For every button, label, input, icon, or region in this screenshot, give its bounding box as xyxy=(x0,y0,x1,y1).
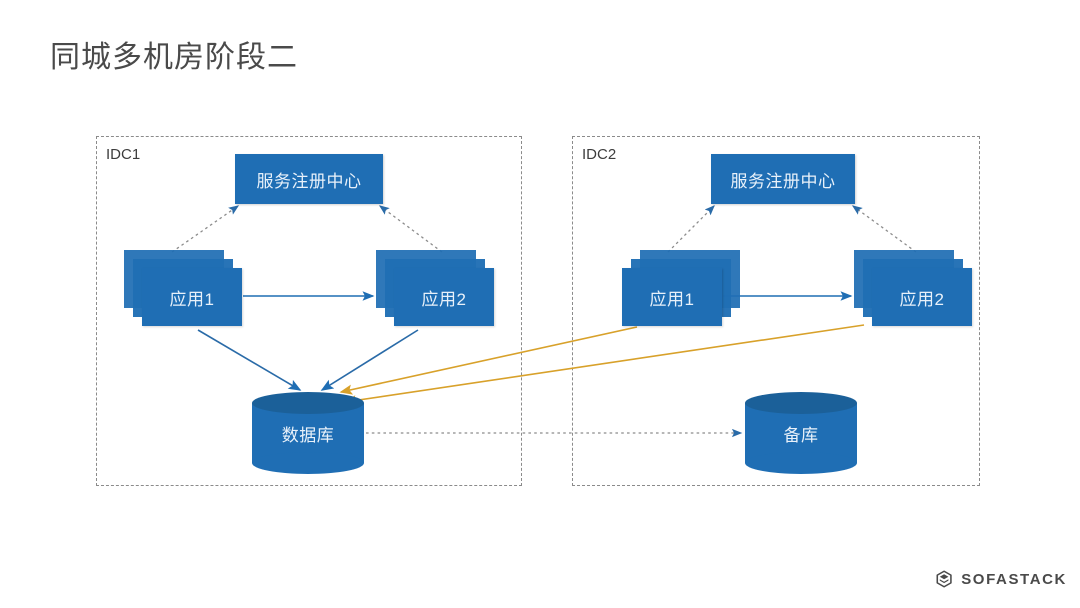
app-node-app2-idc2-label: 应用2 xyxy=(900,285,945,310)
database-node-backup[interactable]: 备库 xyxy=(745,392,857,474)
service-registry-idc2[interactable]: 服务注册中心 xyxy=(711,154,855,204)
service-registry-idc2-label: 服务注册中心 xyxy=(731,167,836,192)
app-stack-layer-front: 应用1 xyxy=(142,268,242,326)
app-stack-layer-front: 应用2 xyxy=(872,268,972,326)
app-node-app2-idc1[interactable]: 应用2 xyxy=(376,250,494,326)
app-node-app2-idc2[interactable]: 应用2 xyxy=(854,250,972,326)
zone-label-idc2: IDC2 xyxy=(582,146,616,164)
service-registry-idc1[interactable]: 服务注册中心 xyxy=(235,154,383,204)
app-node-app1-idc2[interactable]: 应用1 xyxy=(622,250,740,326)
sofastack-wordmark: SOFASTACK xyxy=(961,571,1067,588)
sofastack-logo: SOFASTACK xyxy=(935,557,1067,601)
stacked-layers-hexagon-icon xyxy=(935,561,953,597)
app-stack-layer-front: 应用2 xyxy=(394,268,494,326)
app-stack-layer-front: 应用1 xyxy=(622,268,722,326)
database-node-primary[interactable]: 数据库 xyxy=(252,392,364,474)
app-node-app2-idc1-label: 应用2 xyxy=(422,285,467,310)
service-registry-idc1-label: 服务注册中心 xyxy=(257,167,362,192)
zone-label-idc1: IDC1 xyxy=(106,146,140,164)
app-node-app1-idc2-label: 应用1 xyxy=(650,285,695,310)
architecture-diagram: IDC1 IDC2 xyxy=(0,0,1080,608)
database-node-backup-label: 备库 xyxy=(745,392,857,474)
database-node-primary-label: 数据库 xyxy=(252,392,364,474)
app-node-app1-idc1[interactable]: 应用1 xyxy=(124,250,242,326)
app-node-app1-idc1-label: 应用1 xyxy=(170,285,215,310)
